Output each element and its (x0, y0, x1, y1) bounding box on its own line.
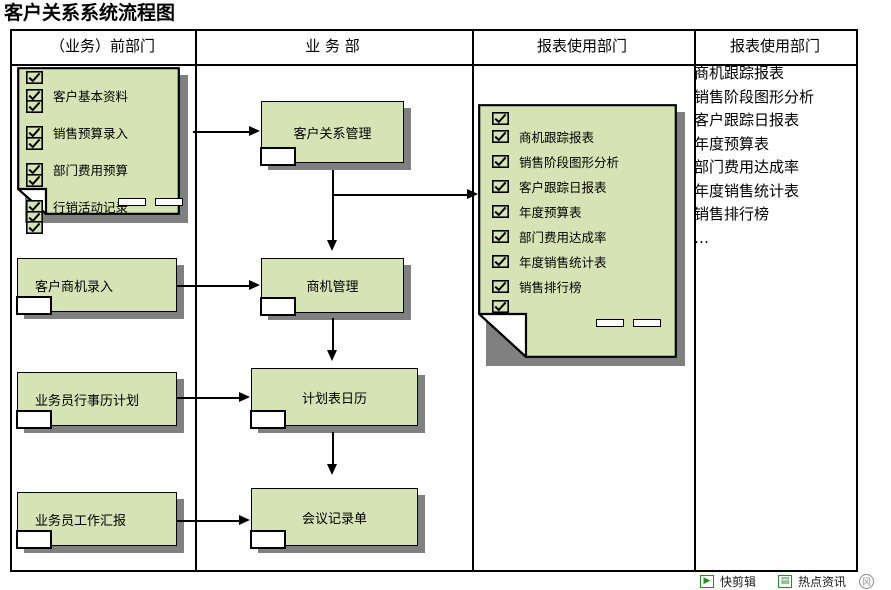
doc-line-row: 商机跟踪报表 (492, 124, 691, 149)
arrow-head-icon (467, 189, 478, 199)
shape-label: 计划表日历 (251, 368, 418, 426)
doc-checkbox-row (26, 182, 189, 186)
doc-line-text: 年度预算表 (519, 202, 582, 221)
checkbox-icon (492, 155, 509, 168)
doc-button[interactable] (118, 198, 146, 206)
checkbox-icon (492, 112, 509, 125)
shape-label: 商机管理 (261, 258, 404, 313)
doc-button[interactable] (596, 319, 624, 327)
column-divider-2 (472, 31, 474, 570)
customer-master-doc[interactable]: 客户基本资料 销售预算录入 (17, 67, 180, 215)
customer-opportunity-entry[interactable]: 客户商机录入 (17, 258, 177, 312)
list-item: 销售阶段图形分析 (694, 86, 856, 110)
doc-line-row: 销售排行榜 (492, 274, 691, 299)
doc-line-row: 部门费用达成率 (492, 224, 691, 249)
doc-line-row: 销售阶段图形分析 (492, 149, 691, 174)
shape-label: 客户商机录入 (17, 258, 177, 312)
doc-checkbox-row (492, 299, 691, 313)
checkbox-icon (26, 221, 43, 234)
doc-line-row: 客户基本资料 (26, 83, 189, 108)
diagram-page: 客户关系系统流程图 （业务）前部门 业 务 部 报表使用部门 报表使用部门 (0, 0, 891, 590)
list-item: 商机跟踪报表 (694, 62, 856, 86)
connector-crm-down (332, 170, 334, 242)
doc-line-text: 客户跟踪日报表 (519, 177, 607, 196)
widget-label-redianzixun[interactable]: 热点资讯 (798, 573, 846, 590)
page-title: 客户关系系统流程图 (4, 0, 175, 26)
connector-calendar-to-schedule (177, 397, 241, 399)
doc-line-text: 行销活动记录 (53, 197, 128, 216)
arrow-head-icon (239, 392, 250, 402)
doc-checkbox-row (26, 108, 189, 112)
column-header-sales-dept: 业 务 部 (195, 29, 470, 62)
arrow-head-icon (327, 240, 337, 251)
doc-line-row: 销售预算录入 (26, 120, 189, 145)
column-divider-1 (195, 31, 197, 570)
arrow-head-icon (239, 515, 250, 525)
arrow-head-icon (327, 464, 337, 475)
doc-line-text: 销售预算录入 (53, 123, 128, 142)
list-item: 年度销售统计表 (694, 180, 856, 204)
checkbox-icon (26, 71, 43, 84)
column-header-label: （业务）前部门 (50, 35, 155, 56)
play-icon[interactable]: ▶ (700, 575, 714, 588)
badge-icon[interactable]: 冈 (859, 574, 874, 589)
doc-checkbox-row (26, 71, 189, 83)
schedule-calendar[interactable]: 计划表日历 (251, 368, 418, 426)
checkbox-icon (492, 180, 509, 193)
report-output-doc[interactable]: 商机跟踪报表 销售阶段图形分析 客户跟踪日报表 年度预算表 (478, 104, 677, 358)
doc-line-row: 客户跟踪日报表 (492, 174, 691, 199)
shape-label: 业务员工作汇报 (17, 492, 177, 546)
doc-button[interactable] (155, 198, 183, 206)
checkbox-icon (492, 205, 509, 218)
crm-management[interactable]: 客户关系管理 (261, 101, 404, 163)
column-header-front-office: （业务）前部门 (12, 29, 193, 62)
salesperson-work-report[interactable]: 业务员工作汇报 (17, 492, 177, 546)
checkbox-icon (492, 255, 509, 268)
doc-line-text: 销售排行榜 (519, 277, 582, 296)
doc-checkbox-row (26, 223, 189, 227)
floating-widget-bar[interactable]: ▶ 快剪辑 ▤ 热点资讯 冈 (700, 573, 874, 590)
column-header-label: 报表使用部门 (730, 35, 820, 56)
doc-line-text: 部门费用预算 (53, 160, 128, 179)
doc-line-text: 年度销售统计表 (519, 252, 607, 271)
list-item: 部门费用达成率 (694, 156, 856, 180)
doc-line-row: 部门费用预算 (26, 157, 189, 182)
doc-buttons[interactable] (118, 198, 183, 206)
checkbox-icon (492, 300, 509, 313)
connector-doc-to-crm (193, 131, 250, 133)
meeting-minutes[interactable]: 会议记录单 (251, 488, 418, 546)
column-header-label: 报表使用部门 (537, 35, 627, 56)
shape-label: 业务员行事历计划 (17, 372, 177, 426)
doc-buttons[interactable] (596, 319, 661, 327)
doc-checkbox-row (26, 145, 189, 149)
arrow-head-icon (249, 280, 260, 290)
checkbox-icon (492, 280, 509, 293)
report-users-list: 商机跟踪报表 销售阶段图形分析 客户跟踪日报表 年度预算表 部门费用达成率 年度… (694, 62, 856, 250)
connector-schedule-down (332, 432, 334, 466)
doc-line-text: 部门费用达成率 (519, 227, 607, 246)
checkbox-icon (26, 137, 43, 150)
checkbox-icon (26, 174, 43, 187)
news-icon[interactable]: ▤ (778, 575, 792, 588)
doc-line-text: 商机跟踪报表 (519, 127, 594, 146)
connector-report-to-meeting (177, 520, 241, 522)
list-item: 客户跟踪日报表 (694, 109, 856, 133)
doc-line-row: 年度销售统计表 (492, 249, 691, 274)
doc-line-text: 客户基本资料 (53, 86, 128, 105)
widget-label-kuaijianji[interactable]: 快剪辑 (720, 573, 756, 590)
list-item: 销售排行榜 (694, 203, 856, 227)
list-item: … (694, 227, 856, 251)
salesperson-calendar-plan[interactable]: 业务员行事历计划 (17, 372, 177, 426)
arrow-head-icon (327, 350, 337, 361)
column-header-report-users-2: 报表使用部门 (694, 29, 856, 62)
doc-checklist: 商机跟踪报表 销售阶段图形分析 客户跟踪日报表 年度预算表 (492, 112, 691, 313)
column-header-report-users-1: 报表使用部门 (472, 29, 692, 62)
opportunity-management[interactable]: 商机管理 (261, 258, 404, 313)
shape-label: 会议记录单 (251, 488, 418, 546)
checkbox-icon (492, 230, 509, 243)
checkbox-icon (26, 100, 43, 113)
connector-entry-to-opportunity (177, 285, 251, 287)
checkbox-icon (492, 130, 509, 143)
connector-crm-to-report (332, 194, 472, 196)
doc-checkbox-row (492, 112, 691, 124)
arrow-head-icon (249, 126, 260, 136)
connector-opportunity-down (332, 318, 334, 352)
doc-line-text: 销售阶段图形分析 (519, 152, 619, 171)
list-item: 年度预算表 (694, 133, 856, 157)
doc-line-row: 年度预算表 (492, 199, 691, 224)
shape-label: 客户关系管理 (261, 101, 404, 163)
column-header-label: 业 务 部 (305, 35, 360, 56)
doc-button[interactable] (633, 319, 661, 327)
